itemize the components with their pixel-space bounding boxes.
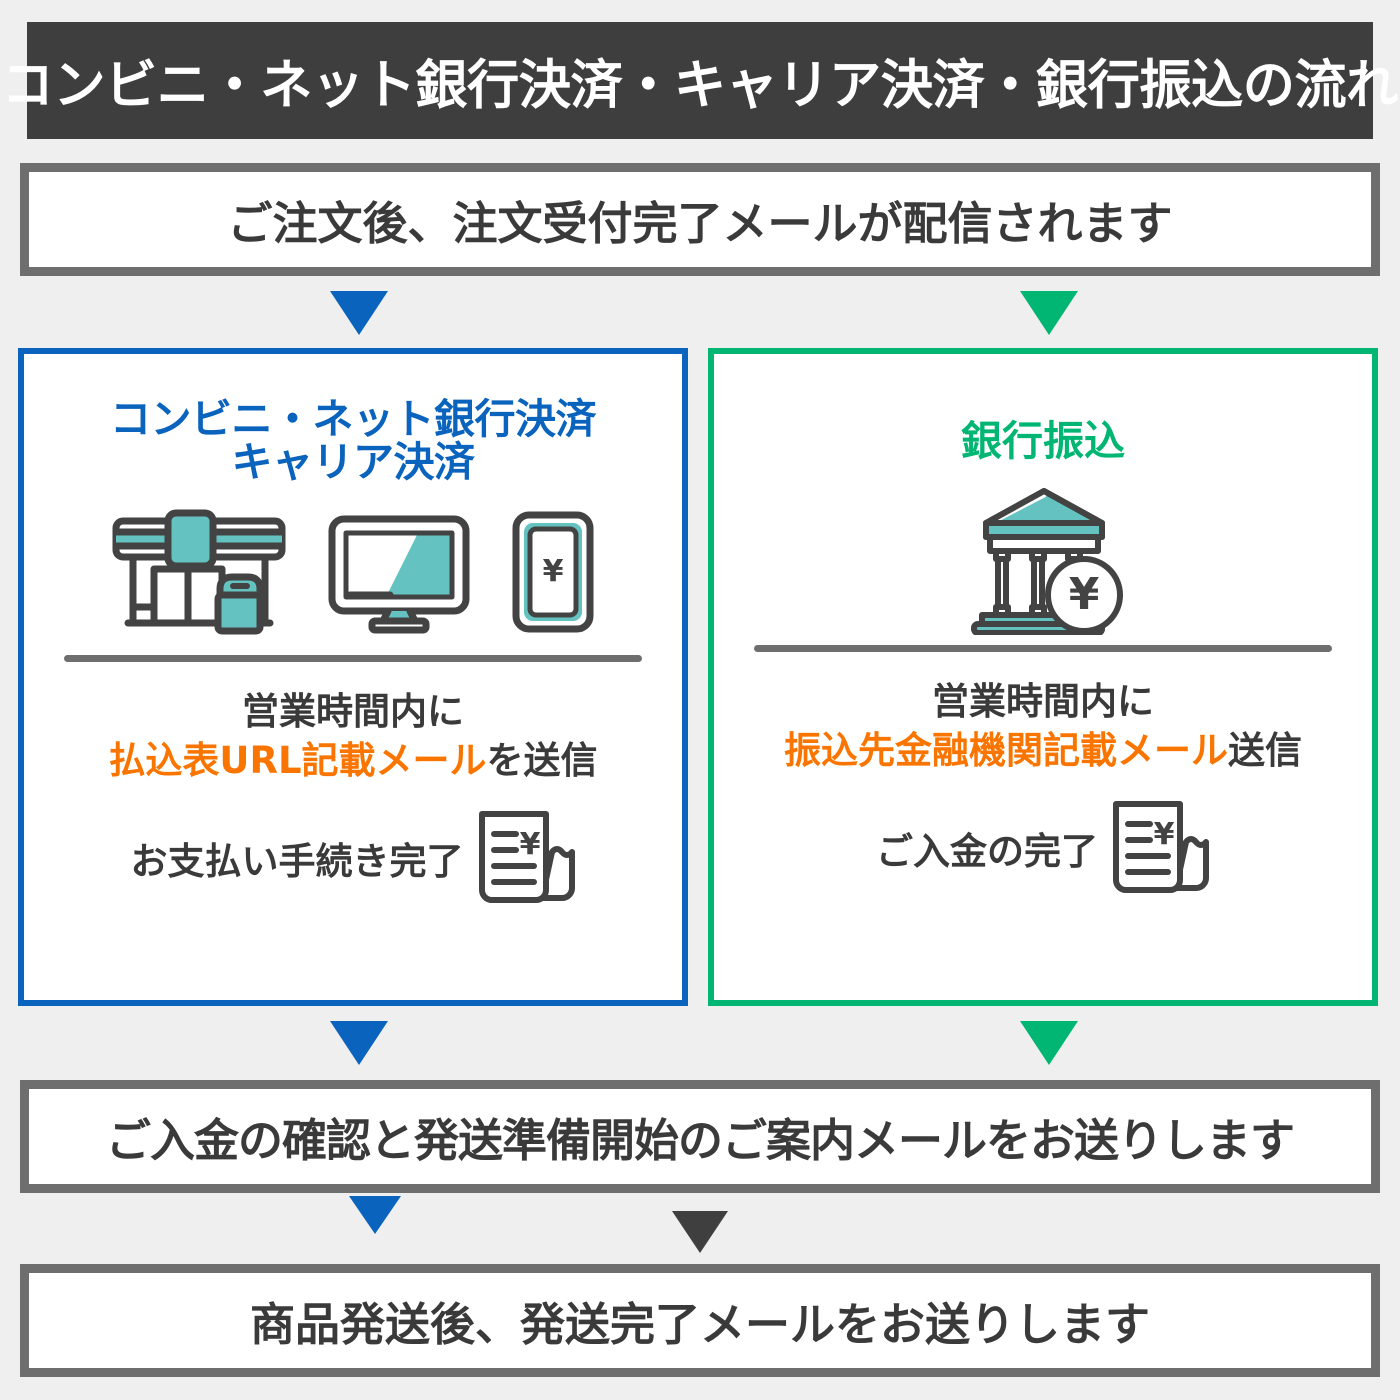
panel-konbini-done-row: お支払い手続き完了 ¥ bbox=[24, 808, 682, 908]
down-triangle-green-to-confirm-icon bbox=[1020, 1021, 1078, 1065]
panel-konbini-heading: コンビニ・ネット銀行決済 キャリア決済 bbox=[24, 398, 682, 485]
panel-konbini-note-suffix: を送信 bbox=[487, 739, 598, 782]
panel-furikomi-note-highlight: 振込先金融機関記載メール bbox=[784, 729, 1228, 772]
step-order-received-banner: ご注文後、注文受付完了メールが配信されます bbox=[20, 163, 1380, 276]
step-shipped-label: 商品発送後、発送完了メールをお送りします bbox=[250, 1288, 1150, 1353]
down-triangle-blue-to-confirm-icon bbox=[330, 1021, 388, 1065]
payment-flow-diagram: コンビニ・ネット銀行決済・キャリア決済・銀行振込の流れ ご注文後、注文受付完了メ… bbox=[0, 0, 1400, 1400]
panel-furikomi-divider bbox=[754, 645, 1332, 652]
svg-text:¥: ¥ bbox=[1069, 569, 1100, 620]
panel-konbini-netbank-carrier: コンビニ・ネット銀行決済 キャリア決済 bbox=[18, 348, 688, 1006]
panel-konbini-note-line1: 営業時間内に bbox=[24, 688, 682, 737]
down-triangle-dark-to-shipped-icon bbox=[672, 1211, 728, 1253]
step-payment-confirmed-banner: ご入金の確認と発送準備開始のご案内メールをお送りします bbox=[20, 1080, 1380, 1193]
panel-furikomi-note: 営業時間内に 振込先金融機関記載メール送信 bbox=[714, 678, 1372, 776]
down-triangle-blue-to-konbini-icon bbox=[330, 291, 388, 335]
panel-furikomi-note-line2: 振込先金融機関記載メール送信 bbox=[714, 727, 1372, 776]
down-triangle-blue-inner-icon bbox=[349, 1196, 401, 1234]
smartphone-yen-icon: ¥ bbox=[510, 509, 596, 635]
step-order-received-label: ご注文後、注文受付完了メールが配信されます bbox=[227, 187, 1172, 252]
panel-bank-transfer: 銀行振込 bbox=[708, 348, 1378, 1006]
bank-yen-icon: ¥ bbox=[952, 483, 1134, 635]
receipt-yen-icon: ¥ bbox=[472, 808, 576, 908]
panel-konbini-icon-row: ¥ bbox=[24, 507, 682, 635]
svg-text:¥: ¥ bbox=[519, 827, 540, 862]
diagram-title-bar: コンビニ・ネット銀行決済・キャリア決済・銀行振込の流れ bbox=[27, 22, 1373, 139]
receipt-yen-icon: ¥ bbox=[1106, 798, 1210, 898]
down-triangle-green-to-furikomi-icon bbox=[1020, 291, 1078, 335]
panel-furikomi-done-row: ご入金の完了 ¥ bbox=[714, 798, 1372, 898]
panel-konbini-done-label: お支払い手続き完了 bbox=[131, 831, 464, 885]
panel-konbini-note: 営業時間内に 払込表URL記載メールを送信 bbox=[24, 688, 682, 786]
svg-text:¥: ¥ bbox=[1154, 817, 1175, 852]
diagram-title: コンビニ・ネット銀行決済・キャリア決済・銀行振込の流れ bbox=[2, 43, 1398, 119]
svg-text:¥: ¥ bbox=[543, 554, 564, 589]
panel-furikomi-done-label: ご入金の完了 bbox=[876, 821, 1098, 875]
panel-furikomi-note-line1: 営業時間内に bbox=[714, 678, 1372, 727]
step-shipped-banner: 商品発送後、発送完了メールをお送りします bbox=[20, 1264, 1380, 1377]
panel-furikomi-note-suffix: 送信 bbox=[1228, 729, 1302, 772]
panel-konbini-note-line2: 払込表URL記載メールを送信 bbox=[24, 737, 682, 786]
desktop-monitor-icon bbox=[326, 511, 472, 635]
panel-konbini-divider bbox=[64, 655, 642, 662]
panel-furikomi-icon-row: ¥ bbox=[714, 485, 1372, 635]
convenience-store-icon bbox=[110, 507, 288, 635]
panel-furikomi-heading: 銀行振込 bbox=[714, 420, 1372, 463]
panel-konbini-note-highlight: 払込表URL記載メール bbox=[108, 739, 486, 782]
step-payment-confirmed-label: ご入金の確認と発送準備開始のご案内メールをお送りします bbox=[106, 1104, 1294, 1169]
